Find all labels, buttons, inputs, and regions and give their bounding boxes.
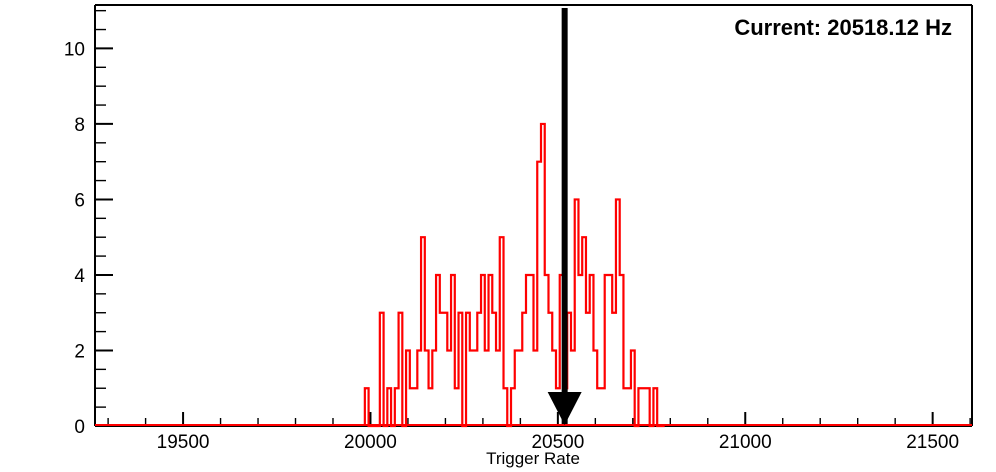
current-rate-arrow	[548, 8, 582, 425]
current-rate-readout: Current: 20518.12 Hz	[734, 15, 952, 40]
y-tick-label: 8	[74, 115, 85, 136]
y-tick-label: 6	[74, 190, 85, 211]
histogram-series	[365, 124, 665, 426]
x-tick-label: 20000	[344, 432, 397, 453]
x-axis: 1950020000205002100021500	[108, 412, 970, 453]
y-axis: 0246810	[64, 11, 113, 438]
x-tick-label: 19500	[157, 432, 210, 453]
x-axis-title: Trigger Rate	[486, 449, 580, 468]
y-tick-label: 0	[74, 417, 85, 438]
y-tick-label: 4	[74, 266, 85, 287]
plot-frame	[95, 5, 972, 426]
x-tick-label: 21000	[719, 432, 772, 453]
histogram-canvas: 0246810 1950020000205002100021500 Trigge…	[0, 0, 996, 472]
x-tick-label: 21500	[906, 432, 959, 453]
trigger-rate-histogram: 0246810 1950020000205002100021500 Trigge…	[0, 0, 996, 472]
y-tick-label: 2	[74, 341, 85, 362]
y-tick-label: 10	[64, 39, 85, 60]
